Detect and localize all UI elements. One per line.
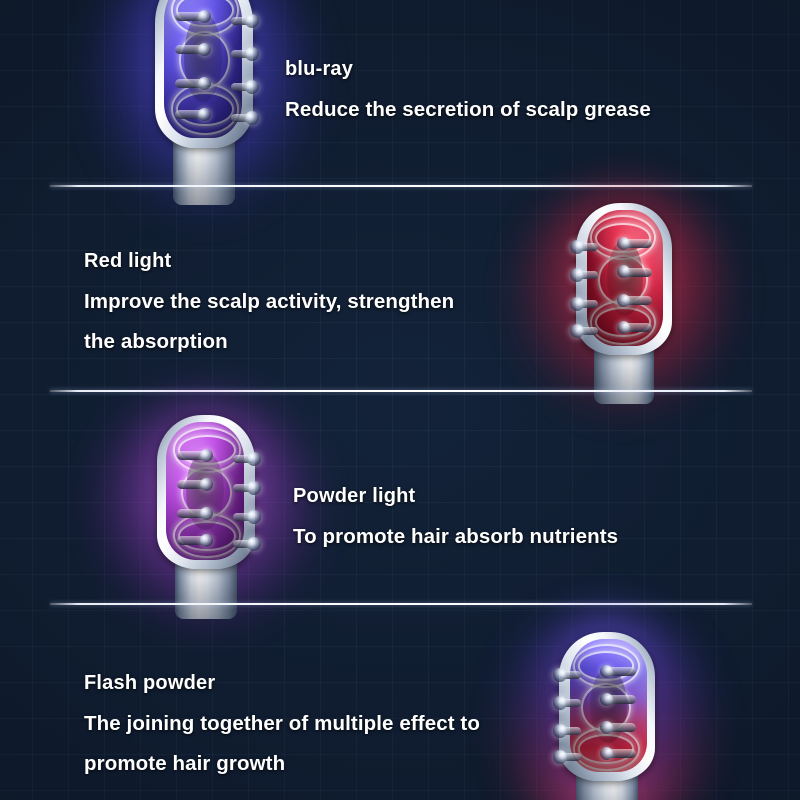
feature-description-line: Reduce the secretion of scalp grease xyxy=(285,98,651,122)
hair-comb-device-blue xyxy=(148,0,260,192)
feature-headline: blu-ray xyxy=(285,58,651,81)
feature-text-blu-ray: blu-ray Reduce the secretion of scalp gr… xyxy=(285,58,651,122)
section-divider-3 xyxy=(50,603,752,605)
feature-headline: Flash powder xyxy=(84,672,480,695)
feature-headline: Powder light xyxy=(293,485,618,508)
feature-description-line: Improve the scalp activity, strengthen xyxy=(84,290,454,314)
feature-description-line: promote hair growth xyxy=(84,752,480,776)
section-divider-2 xyxy=(50,390,752,392)
hair-comb-device-multicolor xyxy=(552,632,662,800)
feature-description-line: The joining together of multiple effect … xyxy=(84,712,480,736)
hair-comb-device-red xyxy=(570,203,678,393)
feature-headline: Red light xyxy=(84,250,454,273)
feature-text-red-light: Red light Improve the scalp activity, st… xyxy=(84,250,454,354)
feature-description-line: To promote hair absorb nutrients xyxy=(293,525,618,549)
section-divider-1 xyxy=(50,185,752,187)
feature-description-line: the absorption xyxy=(84,330,454,354)
product-feature-panel: blu-ray Reduce the secretion of scalp gr… xyxy=(0,0,800,800)
feature-text-powder-light: Powder light To promote hair absorb nutr… xyxy=(293,485,618,549)
feature-text-flash-powder: Flash powder The joining together of mul… xyxy=(84,672,480,776)
hair-comb-device-purple xyxy=(150,415,262,607)
